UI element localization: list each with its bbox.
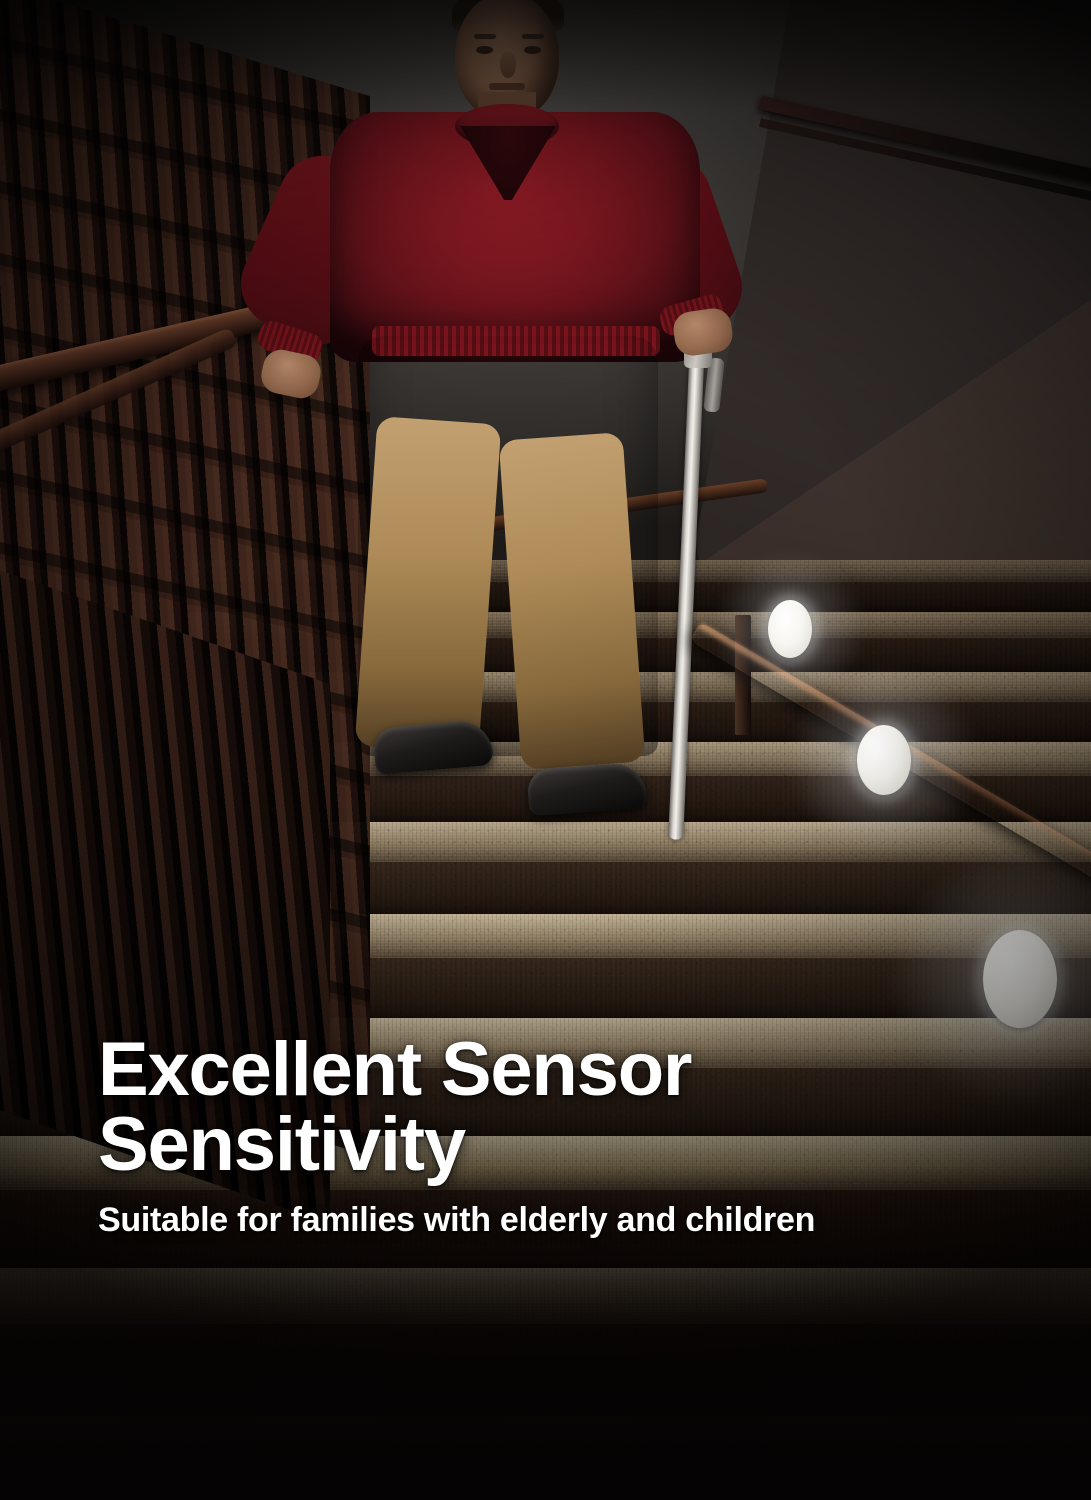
eye-right — [524, 46, 541, 54]
mouth — [489, 83, 525, 90]
stair-tread — [0, 1268, 1091, 1324]
pant-leg-left — [355, 416, 502, 754]
headline-text: Excellent Sensor Sensitivity — [98, 1032, 878, 1182]
nose — [500, 52, 516, 78]
walking-cane-shaft — [668, 340, 705, 840]
led-puck-far — [768, 600, 812, 658]
shoe-left — [372, 719, 494, 775]
led-puck-near — [983, 930, 1057, 1028]
led-puck-lens — [857, 725, 911, 795]
tread-surface — [0, 1268, 1091, 1324]
marketing-copy-block: Excellent Sensor Sensitivity Suitable fo… — [98, 1032, 998, 1242]
riser-surface — [0, 1456, 1091, 1500]
shoe-right — [527, 762, 648, 816]
led-puck-mid — [857, 725, 911, 795]
tread-surface — [0, 1416, 1091, 1456]
eye-left — [476, 46, 493, 54]
stair-riser — [0, 1324, 1091, 1416]
led-puck-lens — [983, 930, 1057, 1028]
hand-on-cane — [671, 306, 735, 358]
stair-tread — [0, 1416, 1091, 1456]
led-puck-lens — [768, 600, 812, 658]
product-feature-image: Excellent Sensor Sensitivity Suitable fo… — [0, 0, 1091, 1500]
stair-riser — [0, 1456, 1091, 1500]
eyebrow-right — [522, 34, 544, 39]
pant-leg-right — [499, 432, 646, 770]
eyebrow-left — [474, 34, 496, 39]
subheadline-text: Suitable for families with elderly and c… — [98, 1200, 818, 1241]
riser-surface — [0, 1324, 1091, 1416]
